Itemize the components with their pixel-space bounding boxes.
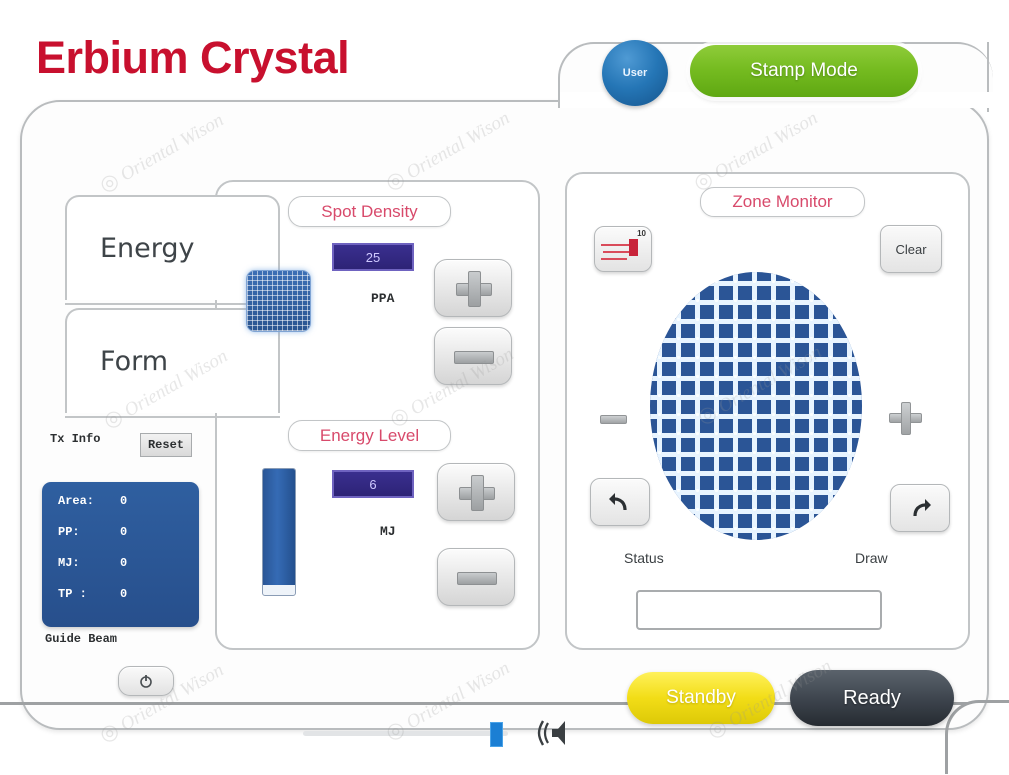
ready-button[interactable]: Ready [790, 670, 954, 726]
stats-key-area: Area: [58, 494, 120, 508]
stats-row: Area: 0 [58, 494, 199, 508]
stats-key-mj: MJ: [58, 556, 120, 570]
status-field[interactable] [636, 590, 882, 630]
stats-key-tp: TP : [58, 587, 120, 601]
guide-beam-button[interactable] [118, 666, 174, 696]
draw-label: Draw [855, 550, 888, 566]
volume-slider-track[interactable] [303, 731, 508, 736]
stats-value-mj: 0 [120, 556, 127, 570]
energy-level-increase-button[interactable] [437, 463, 515, 521]
rotate-left-button[interactable] [590, 478, 650, 526]
tx-info-label: Tx Info [50, 432, 100, 446]
clear-button[interactable]: Clear [880, 225, 942, 273]
energy-level-decrease-button[interactable] [437, 548, 515, 606]
spot-density-decrease-button[interactable] [434, 327, 512, 385]
stamp-mode-button[interactable]: Stamp Mode [690, 45, 918, 97]
energy-level-slider[interactable] [262, 468, 296, 596]
speaker-icon [535, 716, 571, 750]
tab-energy-label: Energy [100, 233, 195, 264]
rotate-right-icon [907, 495, 933, 521]
laser-gauge-button[interactable]: 10 [594, 226, 652, 272]
spot-density-unit: PPA [371, 291, 394, 306]
stats-value-tp: 0 [120, 587, 127, 601]
tab-bottom-edge [65, 416, 280, 418]
volume-slider-handle[interactable] [490, 722, 503, 747]
stats-row: PP: 0 [58, 525, 199, 539]
energy-level-title: Energy Level [288, 420, 451, 451]
spot-grid-icon [246, 270, 311, 332]
gauge-value-label: 10 [637, 229, 646, 238]
guide-beam-label: Guide Beam [45, 632, 117, 646]
stats-row: MJ: 0 [58, 556, 199, 570]
rotate-left-icon [607, 489, 633, 515]
zone-monitor-title: Zone Monitor [700, 187, 865, 217]
energy-level-fill [263, 468, 295, 585]
zone-monitor-display[interactable] [650, 272, 862, 540]
reset-button[interactable]: Reset [140, 433, 192, 457]
spot-density-value: 25 [332, 243, 414, 271]
spot-density-increase-button[interactable] [434, 259, 512, 317]
user-badge[interactable]: User [602, 40, 668, 106]
tab-form-label: Form [100, 346, 168, 377]
standby-button[interactable]: Standby [627, 672, 775, 724]
device-shelf-curve [945, 700, 1009, 774]
stats-value-pp: 0 [120, 525, 127, 539]
stats-panel: Area: 0 PP: 0 MJ: 0 TP : 0 [42, 482, 199, 627]
spot-density-title: Spot Density [288, 196, 451, 227]
energy-level-value: 6 [332, 470, 414, 498]
rotate-right-button[interactable] [890, 484, 950, 532]
status-label: Status [624, 550, 664, 566]
page-title: Erbium Crystal [36, 32, 349, 84]
power-icon [138, 673, 154, 689]
gauge-indicator-icon [629, 239, 638, 256]
zone-cross-pattern [650, 272, 862, 540]
stats-row: TP : 0 [58, 587, 199, 601]
minus-icon [600, 415, 627, 424]
stats-value-area: 0 [120, 494, 127, 508]
stats-key-pp: PP: [58, 525, 120, 539]
plus-icon-vertical [901, 402, 911, 435]
energy-level-unit: MJ [380, 524, 396, 539]
